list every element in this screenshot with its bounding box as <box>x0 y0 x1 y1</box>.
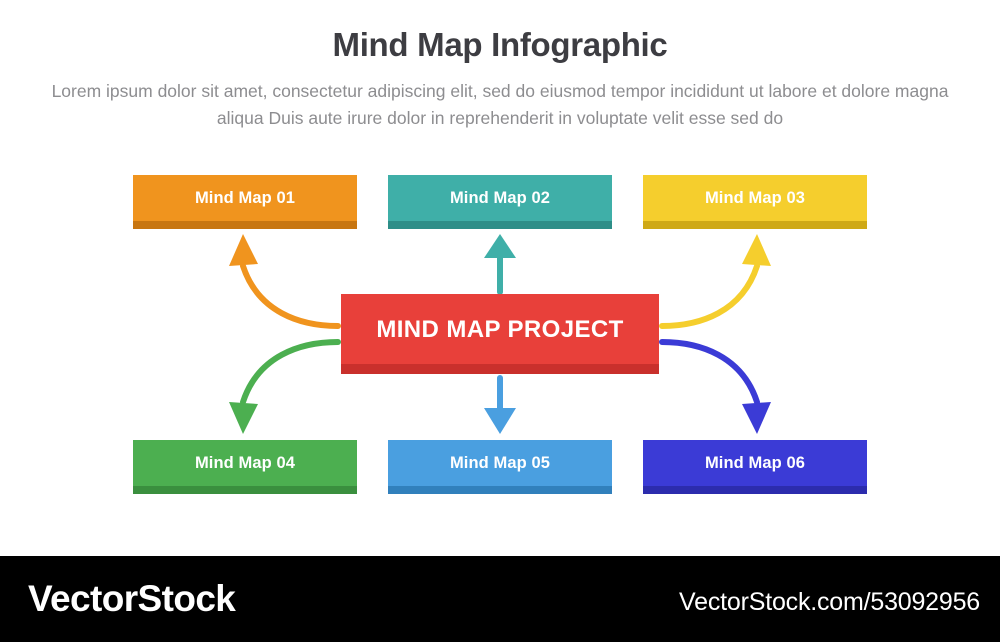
node-label: Mind Map 02 <box>450 189 550 208</box>
center-label: MIND MAP PROJECT <box>376 316 623 344</box>
connector-to-node-05 <box>484 378 516 434</box>
node-shadow <box>643 486 867 494</box>
mind-map-node-05[interactable]: Mind Map 05 <box>388 440 612 494</box>
node-shadow <box>643 221 867 229</box>
node-shadow <box>133 221 357 229</box>
node-label: Mind Map 01 <box>195 189 295 208</box>
connector-to-node-04 <box>229 342 338 434</box>
brand-wordmark: VectorStock <box>28 578 235 620</box>
mind-map-center-node[interactable]: MIND MAP PROJECT <box>341 294 659 374</box>
center-shadow <box>341 364 659 374</box>
node-shadow <box>388 486 612 494</box>
node-label: Mind Map 05 <box>450 454 550 473</box>
mind-map-node-04[interactable]: Mind Map 04 <box>133 440 357 494</box>
connector-to-node-06 <box>662 342 771 434</box>
mind-map-node-03[interactable]: Mind Map 03 <box>643 175 867 229</box>
node-label: Mind Map 06 <box>705 454 805 473</box>
mind-map-node-01[interactable]: Mind Map 01 <box>133 175 357 229</box>
node-label: Mind Map 04 <box>195 454 295 473</box>
node-shadow <box>388 221 612 229</box>
node-label: Mind Map 03 <box>705 189 805 208</box>
infographic-canvas: Mind Map Infographic Lorem ipsum dolor s… <box>0 0 1000 642</box>
mind-map-node-06[interactable]: Mind Map 06 <box>643 440 867 494</box>
connector-to-node-02 <box>484 234 516 292</box>
mind-map-node-02[interactable]: Mind Map 02 <box>388 175 612 229</box>
watermark-url: VectorStock.com/53092956 <box>679 588 980 617</box>
connector-to-node-03 <box>662 234 771 326</box>
connector-to-node-01 <box>229 234 338 326</box>
node-shadow <box>133 486 357 494</box>
watermark-footer: VectorStock VectorStock.com/53092956 <box>0 556 1000 642</box>
